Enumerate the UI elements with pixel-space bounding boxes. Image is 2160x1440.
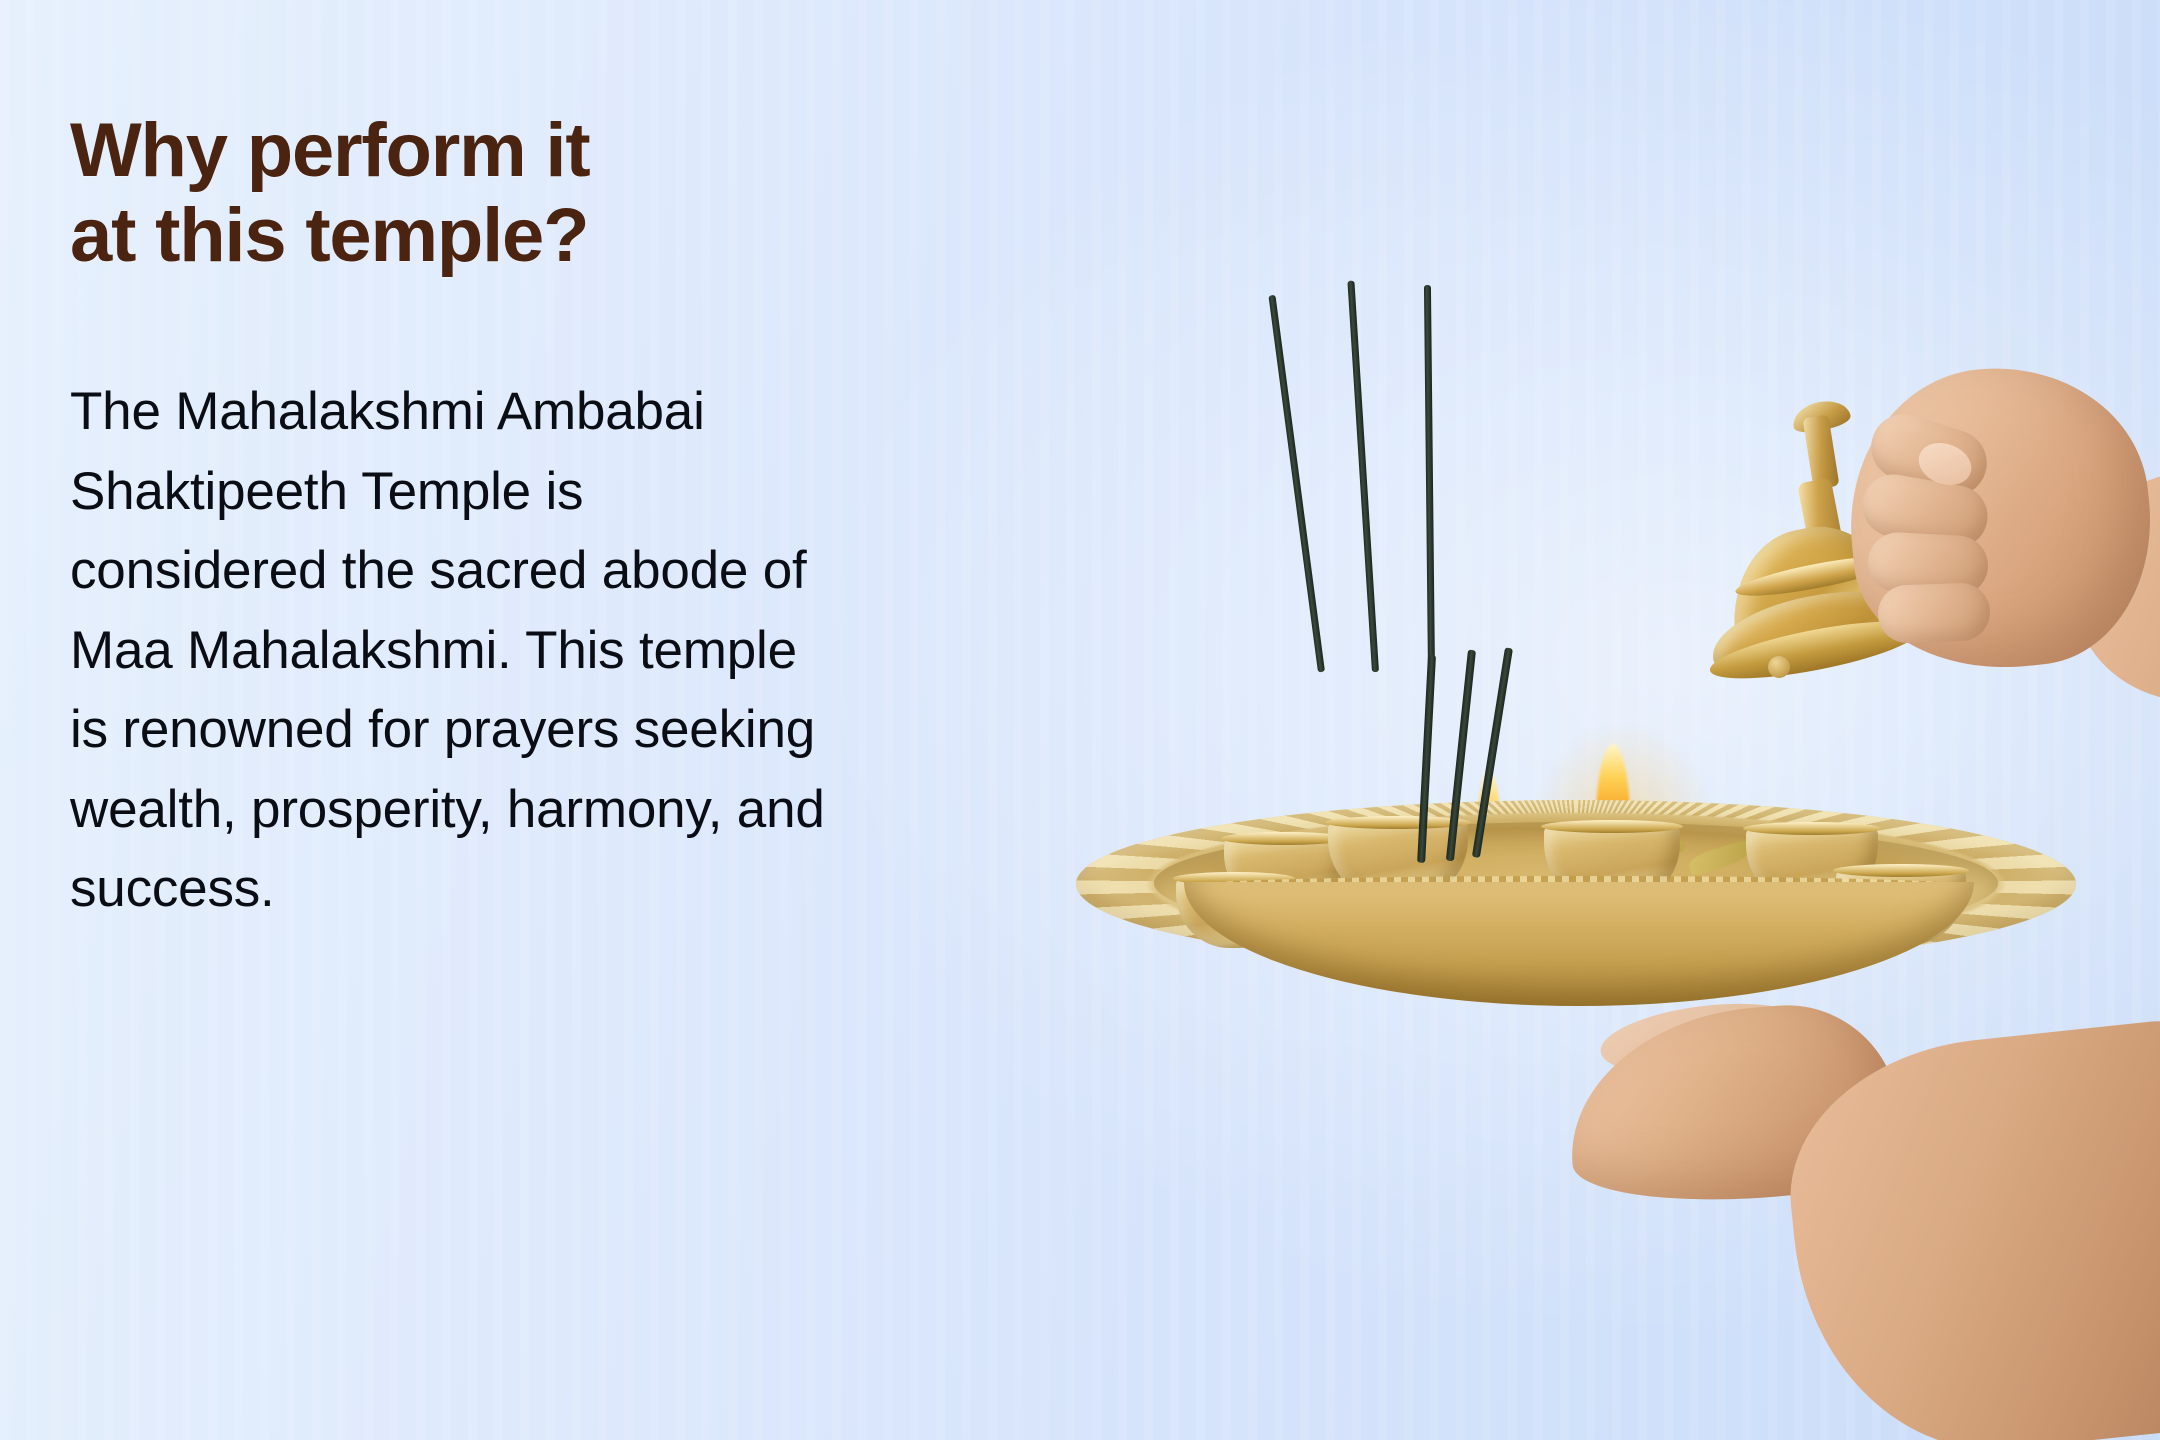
bell-finial-icon <box>1790 396 1853 435</box>
marigold-petals <box>1566 866 1816 940</box>
bell-lip-icon <box>1706 610 1924 690</box>
bell-neck-icon <box>1797 477 1845 558</box>
finger <box>1858 470 1993 553</box>
thumbnail <box>1913 436 1977 492</box>
incense-stick-icon <box>1268 295 1325 673</box>
incense-stick-icon <box>1446 650 1476 862</box>
incense-stick-icon <box>1424 285 1435 673</box>
bell-clapper-icon <box>1768 656 1790 678</box>
thali-rim <box>1076 800 2076 968</box>
leaf-icon <box>1686 840 1751 876</box>
finger <box>1877 582 1991 644</box>
slide-canvas: Why perform it at this temple? The Mahal… <box>0 0 2160 1440</box>
leaf-icon <box>1635 830 1685 857</box>
bell-ring-icon <box>1733 548 1900 603</box>
incense-stick-icon <box>1347 281 1379 673</box>
thali-side <box>1184 882 1974 1006</box>
finger <box>1867 531 1990 597</box>
bell-body-icon <box>1717 513 1911 673</box>
thali-bowl <box>1328 822 1468 902</box>
thali-well <box>1154 822 1998 944</box>
thali-bowl <box>1416 888 1538 960</box>
finger <box>1863 405 1996 504</box>
page-title: Why perform it at this temple? <box>70 108 890 278</box>
forearm-upper <box>2058 445 2160 717</box>
thali-scallop-edge <box>1076 800 2076 968</box>
incense-stick-icon <box>1417 655 1436 863</box>
thali-bowl <box>1176 878 1292 948</box>
page-title-line-2: at this temple? <box>70 193 890 278</box>
hand-ringing-bell <box>1835 353 2160 683</box>
text-column: Why perform it at this temple? The Mahal… <box>70 108 890 929</box>
bell-skirt-icon <box>1705 577 1925 688</box>
temple-bell-group <box>1700 388 2120 778</box>
incense-stick-icon <box>1472 647 1513 858</box>
page-title-line-1: Why perform it <box>70 108 890 193</box>
diya-flame-icon <box>1478 770 1500 846</box>
knuckles <box>1597 993 1813 1084</box>
body-paragraph: The Mahalakshmi Ambabai Shaktipeeth Temp… <box>70 372 840 929</box>
hand-holding-thali <box>1560 996 1905 1214</box>
diya-flame-icon <box>1596 744 1630 852</box>
thali-edge-wave <box>1184 876 1974 896</box>
bell-handle-icon <box>1803 414 1840 489</box>
forearm-lower <box>1776 1017 2160 1440</box>
thali-bowl <box>1746 828 1878 906</box>
puja-thali <box>1076 800 2076 1100</box>
thali-bowl <box>1224 838 1346 910</box>
thali-bowl <box>1544 826 1680 906</box>
flame-glow <box>1528 722 1718 932</box>
thali-bowl <box>1836 870 1966 946</box>
